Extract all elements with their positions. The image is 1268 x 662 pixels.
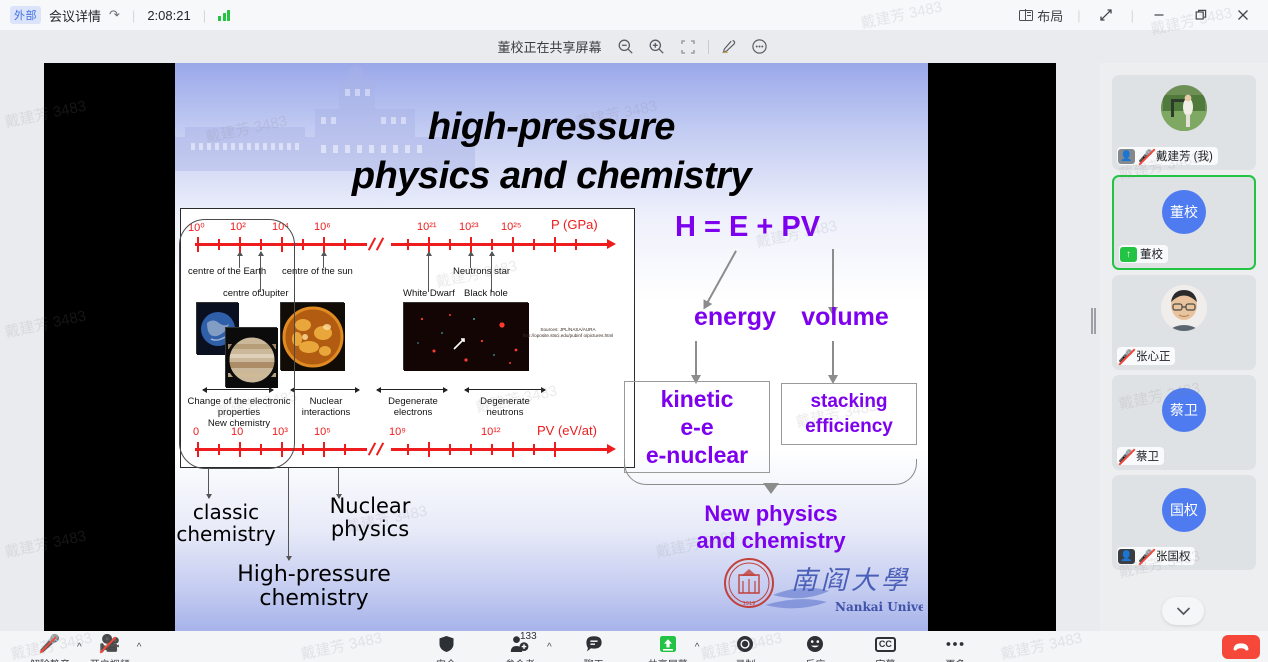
participant-name-row: 🎤 张心正 bbox=[1117, 347, 1175, 365]
region-span-arrow bbox=[377, 389, 447, 390]
participant-name-row: 🎤 蔡卫 bbox=[1117, 447, 1164, 465]
top-tick-label: 10²¹ bbox=[417, 221, 437, 233]
record-button-label: 录制 bbox=[735, 656, 755, 662]
mute-options-caret[interactable]: ^ bbox=[76, 642, 84, 662]
close-button[interactable] bbox=[1222, 0, 1264, 30]
university-name: Nankai University bbox=[835, 600, 923, 614]
participant-tile-zhangguoquan[interactable]: 国权 👤 🎤 张国权 bbox=[1112, 475, 1256, 570]
region-span-arrow bbox=[291, 389, 359, 390]
close-icon bbox=[1235, 7, 1251, 23]
reactions-button[interactable]: 反应 bbox=[789, 633, 841, 662]
participants-button-label: 参会者 bbox=[505, 656, 535, 662]
record-button[interactable]: 录制 bbox=[719, 633, 771, 662]
svg-text:學: 學 bbox=[881, 566, 909, 596]
closed-caption-button[interactable]: CC 字幕 bbox=[859, 633, 911, 662]
svg-text:大: 大 bbox=[851, 566, 880, 596]
slide-title: high-pressure physics and chemistry bbox=[175, 103, 928, 200]
top-tick-label: 10⁶ bbox=[314, 221, 331, 233]
region-label-degenerate-electrons: Degenerate electrons bbox=[375, 397, 451, 419]
participant-name-row: 👤 🎤 戴建芳 (我) bbox=[1117, 147, 1218, 165]
participant-tile-daijianfang[interactable]: 👤 🎤 戴建芳 (我) bbox=[1112, 75, 1256, 170]
shield-icon bbox=[438, 633, 455, 655]
meeting-window: 外部 会议详情 ↷ | 2:08:21 | 布局 | | bbox=[0, 0, 1268, 662]
object-label-black-hole: Black hole bbox=[464, 289, 508, 300]
participant-tile-caiwei[interactable]: 蔡卫 🎤 蔡卫 bbox=[1112, 375, 1256, 470]
pressure-scale-diagram: 10⁰ 10² 10⁴ 10⁶ 10²¹ 10²³ 10²⁵ P (GPa) c… bbox=[180, 208, 635, 468]
slide-title-line2: physics and chemistry bbox=[175, 152, 928, 201]
end-call-icon bbox=[1232, 642, 1250, 652]
participant-tile-dongxiao[interactable]: 董校 ↑ 董校 bbox=[1112, 175, 1256, 270]
scroll-down-button[interactable] bbox=[1162, 597, 1204, 625]
zoom-out-icon[interactable] bbox=[615, 36, 637, 58]
svg-text:南: 南 bbox=[791, 566, 821, 596]
node-line: High-pressure bbox=[199, 563, 429, 587]
node-line: chemistry bbox=[199, 587, 429, 611]
camera-muted-icon: 🎥 bbox=[99, 633, 120, 655]
arrow-eq-to-energy bbox=[706, 250, 737, 304]
region-label-nuclear: Nuclear interactions bbox=[291, 397, 361, 419]
node-line: Nuclear bbox=[305, 495, 435, 518]
title-bar-left: 外部 会议详情 ↷ | 2:08:21 | bbox=[0, 6, 230, 25]
participants-button[interactable]: 参会者 133 bbox=[494, 633, 546, 662]
region-label-line: neutrons bbox=[465, 408, 545, 419]
slide-title-line1: high-pressure bbox=[175, 103, 928, 152]
object-label-white-dwarf: White Dwarf bbox=[403, 289, 455, 300]
top-axis-arrowhead bbox=[607, 239, 616, 249]
top-axis-name: P (GPa) bbox=[551, 217, 598, 232]
mute-button[interactable]: 🎤 解除静音 bbox=[24, 633, 76, 662]
node-line: physics bbox=[305, 518, 435, 541]
avatar-initials: 蔡卫 bbox=[1162, 388, 1206, 432]
reactions-icon bbox=[806, 633, 824, 655]
host-badge-icon: 👤 bbox=[1118, 149, 1135, 164]
more-dots-icon bbox=[945, 633, 965, 655]
participants-sidebar: 👤 🎤 戴建芳 (我) 董校 ↑ 董校 bbox=[1100, 63, 1268, 631]
toolbar-center-group: 安全 参会者 133 ^ bbox=[420, 633, 981, 662]
divider: | bbox=[1131, 8, 1134, 23]
node-line: and chemistry bbox=[653, 528, 889, 555]
fit-screen-icon[interactable] bbox=[677, 36, 699, 58]
microphone-muted-icon: 🎤 bbox=[1118, 450, 1133, 462]
participant-name-row: ↑ 董校 bbox=[1119, 245, 1168, 263]
region-span-arrow bbox=[465, 389, 545, 390]
enthalpy-equation: H = E + PV bbox=[675, 211, 820, 244]
layout-icon bbox=[1019, 10, 1033, 21]
source-citation: Sources: JPL/NASA/AURA http://oposite.st… bbox=[521, 327, 615, 339]
external-badge: 外部 bbox=[10, 6, 41, 24]
minimize-icon bbox=[1152, 8, 1166, 22]
pen-annotate-icon[interactable] bbox=[718, 36, 740, 58]
closed-caption-icon: CC bbox=[875, 633, 896, 655]
participants-options-caret[interactable]: ^ bbox=[546, 642, 554, 662]
node-nuclear-physics: Nuclear physics bbox=[305, 495, 435, 541]
participant-name: 董校 bbox=[1140, 246, 1163, 262]
bottom-axis-name: PV (eV/at) bbox=[537, 423, 597, 438]
record-icon bbox=[736, 633, 754, 655]
pointer-whitedwarf bbox=[428, 252, 429, 292]
join-bracket-tip bbox=[763, 483, 779, 494]
avatar-initials: 董校 bbox=[1162, 190, 1206, 234]
zoom-in-icon[interactable] bbox=[646, 36, 668, 58]
meeting-info-label[interactable]: 会议详情 bbox=[49, 6, 101, 25]
minimize-button[interactable] bbox=[1138, 0, 1180, 30]
presentation-slide: high-pressure physics and chemistry bbox=[175, 63, 928, 631]
node-line: classic bbox=[175, 501, 291, 523]
shared-screen-canvas[interactable]: high-pressure physics and chemistry bbox=[44, 63, 1056, 631]
microphone-muted-icon: 🎤 bbox=[1138, 150, 1153, 162]
avatar bbox=[1161, 285, 1207, 331]
node-new-physics-chemistry: New physics and chemistry bbox=[653, 501, 889, 555]
node-line: kinetic bbox=[624, 385, 770, 413]
participant-name: 张国权 bbox=[1156, 548, 1191, 564]
participant-name-row: 👤 🎤 张国权 bbox=[1117, 547, 1195, 565]
bottom-tick-label: 10⁵ bbox=[314, 426, 331, 438]
layout-label: 布局 bbox=[1037, 6, 1063, 25]
share-status-text: 董校正在共享屏幕 bbox=[497, 37, 601, 56]
arrow-volume-to-stacking bbox=[832, 341, 834, 377]
microphone-muted-icon: 🎤 bbox=[39, 633, 60, 655]
share-status-bar: 董校正在共享屏幕 bbox=[0, 30, 1268, 63]
divider: | bbox=[132, 8, 135, 23]
more-button[interactable]: 更多 bbox=[929, 633, 981, 662]
region-label-line: interactions bbox=[291, 408, 361, 419]
chat-button[interactable]: 聊天 bbox=[568, 633, 620, 662]
expand-icon bbox=[1099, 8, 1113, 22]
object-label-neutron-star: Neutrons star bbox=[453, 267, 510, 278]
end-call-button[interactable] bbox=[1222, 635, 1260, 659]
meeting-toolbar: 🎤 解除静音 ^ 🎥 开启视频 ^ 安全 bbox=[0, 631, 1268, 662]
screen-share-badge-icon: ↑ bbox=[1120, 247, 1137, 262]
nankai-university-logo: 1919 南 阎 大 學 Nankai University bbox=[713, 553, 923, 619]
share-options-caret[interactable]: ^ bbox=[694, 642, 702, 662]
maximize-icon bbox=[1194, 8, 1208, 22]
closed-caption-button-label: 字幕 bbox=[875, 656, 895, 662]
bottom-axis-arrowhead bbox=[607, 444, 616, 454]
node-stacking-efficiency: stacking efficiency bbox=[781, 390, 917, 439]
fullscreen-button[interactable] bbox=[1085, 0, 1127, 30]
host-badge-icon: 👤 bbox=[1118, 549, 1135, 564]
region-label-line: electrons bbox=[375, 408, 451, 419]
more-circle-icon[interactable] bbox=[749, 36, 771, 58]
top-tick-label: 10²³ bbox=[459, 221, 479, 233]
join-bracket bbox=[624, 459, 917, 485]
low-pressure-bracket bbox=[179, 219, 295, 469]
shared-screen-stage: high-pressure physics and chemistry bbox=[0, 63, 1100, 631]
node-line: stacking bbox=[781, 390, 917, 415]
participant-tile-zhangxinzheng[interactable]: 🎤 张心正 bbox=[1112, 275, 1256, 370]
top-tick-label: 10²⁵ bbox=[501, 221, 521, 233]
node-classic-chemistry: classic chemistry bbox=[175, 501, 291, 545]
video-button[interactable]: 🎥 开启视频 bbox=[84, 633, 136, 662]
participant-count-badge: 133 bbox=[520, 631, 537, 642]
node-line: New physics bbox=[653, 501, 889, 528]
share-screen-button[interactable]: 共享屏幕 bbox=[642, 633, 694, 662]
divider bbox=[708, 40, 709, 54]
svg-text:阎: 阎 bbox=[821, 566, 851, 596]
bottom-tick-label: 10⁹ bbox=[389, 426, 406, 438]
arrow-eq-to-volume bbox=[832, 249, 834, 309]
avatar bbox=[1161, 85, 1207, 131]
video-options-caret[interactable]: ^ bbox=[136, 642, 144, 662]
share-arrow-icon[interactable]: ↷ bbox=[109, 7, 120, 23]
participant-name: 蔡卫 bbox=[1136, 448, 1159, 464]
node-line: e-e bbox=[624, 413, 770, 441]
more-button-label: 更多 bbox=[945, 656, 965, 662]
share-screen-button-label: 共享屏幕 bbox=[648, 656, 688, 662]
region-label-degenerate-neutrons: Degenerate neutrons bbox=[465, 397, 545, 419]
title-bar: 外部 会议详情 ↷ | 2:08:21 | 布局 | | bbox=[0, 0, 1268, 30]
chat-icon bbox=[585, 633, 603, 655]
layout-button[interactable]: 布局 bbox=[1009, 0, 1073, 30]
arrow-energy-to-kinetic bbox=[695, 341, 697, 377]
reactions-button-label: 反应 bbox=[805, 656, 825, 662]
svg-text:1919: 1919 bbox=[743, 601, 756, 607]
microphone-muted-icon: 🎤 bbox=[1118, 350, 1133, 362]
node-line: chemistry bbox=[175, 523, 291, 545]
participant-name: 张心正 bbox=[1136, 348, 1171, 364]
participant-name: 戴建芳 (我) bbox=[1156, 148, 1213, 164]
meeting-duration: 2:08:21 bbox=[147, 8, 190, 23]
toolbar-left-group: 🎤 解除静音 ^ 🎥 开启视频 ^ bbox=[24, 633, 143, 662]
video-button-label: 开启视频 bbox=[90, 656, 130, 662]
signal-strength-icon[interactable] bbox=[218, 9, 230, 21]
security-button-label: 安全 bbox=[436, 656, 456, 662]
watermark: 戴建芳 3483 bbox=[299, 627, 384, 662]
sidebar-resize-handle[interactable] bbox=[1091, 308, 1096, 334]
node-line: efficiency bbox=[781, 415, 917, 440]
mute-button-label: 解除静音 bbox=[30, 656, 70, 662]
microphone-muted-icon: 🎤 bbox=[1138, 550, 1153, 562]
divider: | bbox=[1077, 8, 1080, 23]
arrow-to-classic-chemistry bbox=[208, 468, 209, 498]
title-bar-right: 布局 | | bbox=[1009, 0, 1268, 30]
security-button[interactable]: 安全 bbox=[420, 633, 472, 662]
node-volume: volume bbox=[765, 303, 925, 331]
share-screen-icon bbox=[659, 633, 677, 655]
node-kinetic: kinetic e-e e-nuclear bbox=[624, 385, 770, 469]
thumbnail-deep-space bbox=[403, 302, 528, 370]
chevron-down-icon bbox=[1176, 606, 1191, 616]
bottom-tick-label: 10¹² bbox=[481, 426, 501, 438]
watermark: 戴建芳 3483 bbox=[999, 627, 1084, 662]
maximize-button[interactable] bbox=[1180, 0, 1222, 30]
avatar-initials: 国权 bbox=[1162, 488, 1206, 532]
node-high-pressure-chemistry: High-pressure chemistry bbox=[199, 563, 429, 611]
divider: | bbox=[203, 8, 206, 23]
chat-button-label: 聊天 bbox=[584, 656, 604, 662]
